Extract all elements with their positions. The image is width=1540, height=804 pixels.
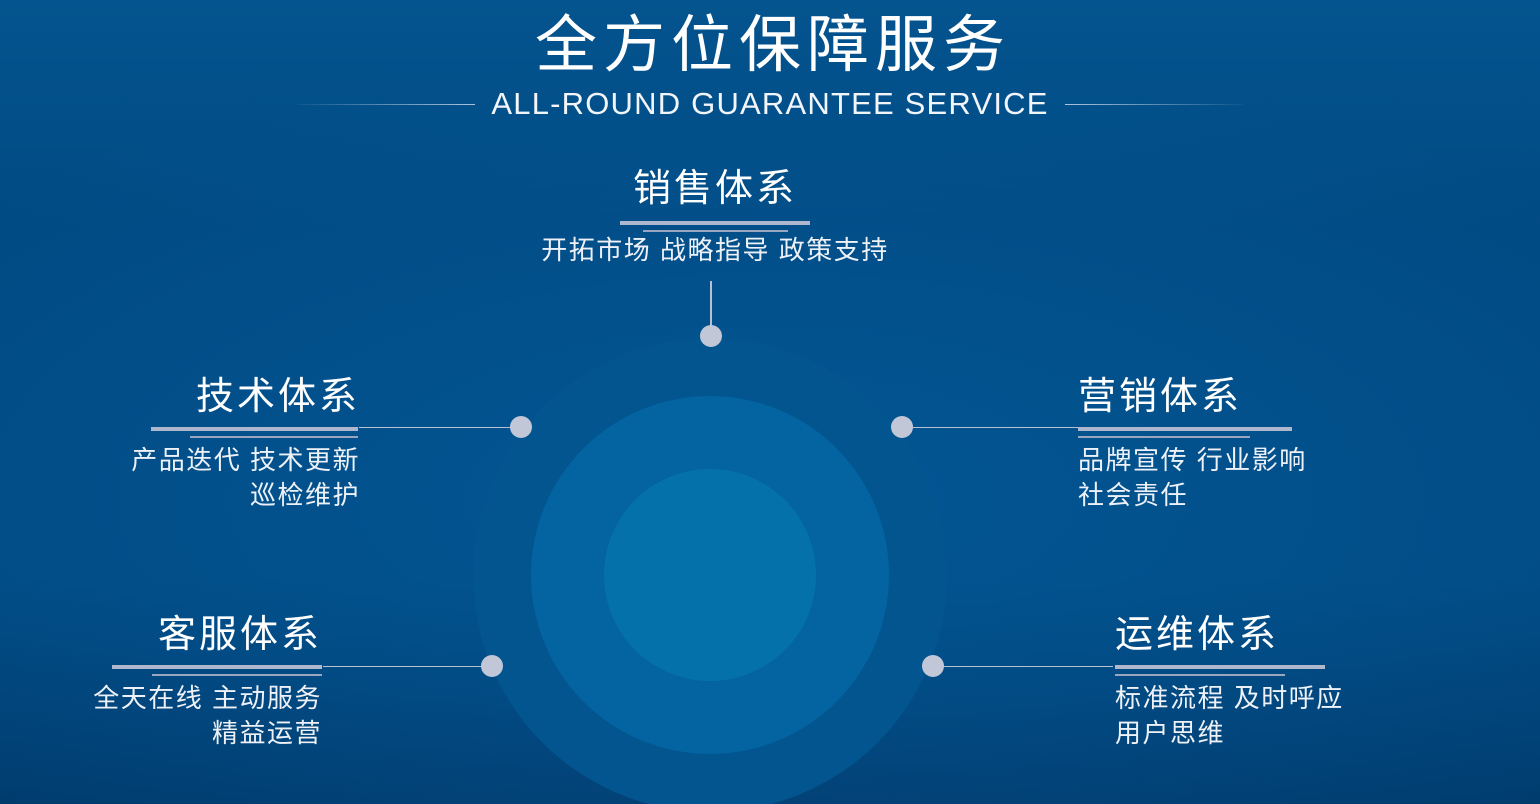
title-rule-right-decoration <box>1065 104 1243 105</box>
node-support-title: 客服体系 <box>0 614 322 657</box>
node-ops[interactable]: 运维体系 标准流程 及时呼应 用户思维 <box>1115 614 1535 752</box>
node-marketing-desc-line2: 社会责任 <box>1078 478 1498 514</box>
node-tech-desc-line2: 巡检维护 <box>0 478 360 514</box>
node-marketing-rule-thin <box>1078 436 1250 438</box>
node-sales-rule-thick <box>620 221 810 225</box>
node-ops-description: 标准流程 及时呼应 用户思维 <box>1115 681 1535 753</box>
connector-line-support <box>323 666 493 667</box>
node-sales[interactable]: 销售体系 开拓市场 战略指导 政策支持 <box>505 168 925 268</box>
title-rule-left-decoration <box>297 104 475 105</box>
connector-line-tech <box>359 427 522 428</box>
node-tech-rule-thick <box>151 427 358 431</box>
page-title: 全方位保障服务 <box>0 0 1540 78</box>
node-marketing[interactable]: 营销体系 品牌宣传 行业影响 社会责任 <box>1078 376 1498 514</box>
node-sales-rule-thin <box>643 230 788 232</box>
node-support-desc-line1: 全天在线 主动服务 <box>93 683 322 713</box>
node-ops-rule-thin <box>1115 674 1285 676</box>
connector-dot-tech <box>510 416 532 438</box>
connector-dot-support <box>481 655 503 677</box>
connector-dot-marketing <box>891 416 913 438</box>
node-support-rule-thick <box>112 665 322 669</box>
node-sales-desc-line1: 开拓市场 战略指导 政策支持 <box>541 235 888 265</box>
node-tech-title: 技术体系 <box>0 376 360 419</box>
node-ops-rule-thick <box>1115 665 1325 669</box>
connector-dot-sales <box>700 325 722 347</box>
node-support-description: 全天在线 主动服务 精益运营 <box>0 681 322 753</box>
connector-line-ops <box>933 666 1113 667</box>
node-ops-title: 运维体系 <box>1115 614 1535 657</box>
node-marketing-description: 品牌宣传 行业影响 社会责任 <box>1078 443 1498 515</box>
node-support-rule-thin <box>152 674 322 676</box>
node-tech[interactable]: 技术体系 产品迭代 技术更新 巡检维护 <box>0 376 360 514</box>
node-support-desc-line2: 精益运营 <box>0 716 322 752</box>
node-tech-desc-line1: 产品迭代 技术更新 <box>131 445 360 475</box>
node-sales-title: 销售体系 <box>505 168 925 211</box>
page-subtitle: ALL-ROUND GUARANTEE SERVICE <box>491 86 1048 122</box>
node-tech-rule-thin <box>190 436 358 438</box>
node-marketing-rule-thick <box>1078 427 1292 431</box>
node-marketing-title: 营销体系 <box>1078 376 1498 419</box>
node-sales-description: 开拓市场 战略指导 政策支持 <box>505 233 925 269</box>
connector-dot-ops <box>922 655 944 677</box>
subtitle-row: ALL-ROUND GUARANTEE SERVICE <box>0 86 1540 122</box>
node-support[interactable]: 客服体系 全天在线 主动服务 精益运营 <box>0 614 322 752</box>
node-marketing-desc-line1: 品牌宣传 行业影响 <box>1078 445 1307 475</box>
node-ops-desc-line2: 用户思维 <box>1115 716 1535 752</box>
ring-inner-circle <box>604 469 816 681</box>
page-header: 全方位保障服务 ALL-ROUND GUARANTEE SERVICE <box>0 0 1540 122</box>
node-tech-description: 产品迭代 技术更新 巡检维护 <box>0 443 360 515</box>
node-ops-desc-line1: 标准流程 及时呼应 <box>1115 683 1344 713</box>
infographic-canvas: 全方位保障服务 ALL-ROUND GUARANTEE SERVICE 销售体系… <box>0 0 1540 804</box>
connector-line-marketing <box>902 427 1079 428</box>
